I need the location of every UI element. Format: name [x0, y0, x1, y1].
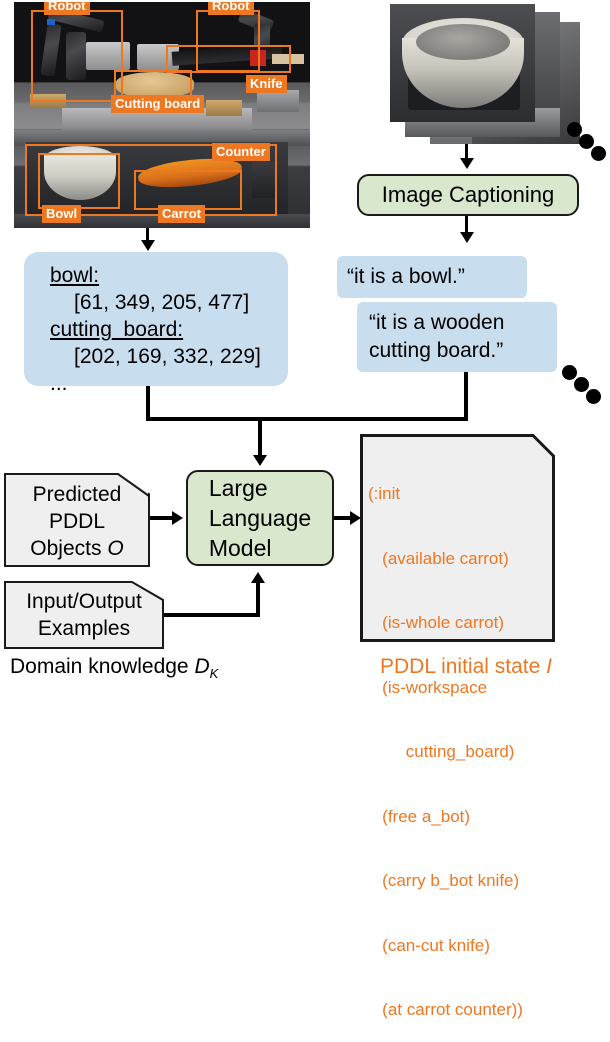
bbox-label-cutting-board: Cutting board: [111, 95, 204, 113]
examples-line-0: Input/Output: [4, 588, 164, 615]
stack-photo-front: [390, 4, 535, 122]
bbox-label-counter: Counter: [212, 143, 270, 161]
caption-ellipsis-dot-1: [562, 365, 577, 380]
objects-line-1: PDDL: [4, 508, 150, 535]
pddl-line-7: (can-cut knife): [368, 935, 553, 957]
connector-captions-down: [464, 372, 468, 420]
object-ellipsis: ...: [50, 370, 288, 397]
caption-bubble-2: “it is a wooden cutting board.”: [357, 302, 557, 372]
caption-ellipsis-dot-2: [574, 377, 589, 392]
arrow-captioning-to-captions: [460, 232, 474, 243]
arrow-merge-to-llm: [253, 455, 267, 466]
bbox-label-carrot: Carrot: [158, 205, 205, 223]
domain-knowledge-caption: Domain knowledge DK: [10, 655, 218, 681]
pddl-line-3: (is-workspace: [368, 677, 553, 699]
connector-examples-right: [164, 613, 260, 617]
bbox-label-robot-right: Robot: [208, 2, 254, 15]
large-language-model-module[interactable]: Large Language Model: [186, 470, 334, 566]
caption-bubble-1: “it is a bowl.”: [337, 256, 527, 298]
input-output-examples-text: Input/Output Examples: [4, 588, 164, 642]
examples-line-1: Examples: [4, 615, 164, 642]
caption-text-2: “it is a wooden cutting board.”: [357, 302, 557, 365]
connector-merge-horizontal: [146, 417, 468, 421]
pddl-line-8: (at carrot counter)): [368, 999, 553, 1021]
connector-examples-up: [256, 582, 260, 617]
arrow-examples-to-llm: [251, 572, 265, 583]
detected-objects-panel: bowl: [61, 349, 205, 477] cutting_board:…: [24, 252, 288, 386]
connector-objects-down: [146, 386, 150, 420]
arrow-stack-to-captioning: [460, 158, 474, 169]
predicted-pddl-objects-text: Predicted PDDL Objects O: [4, 481, 150, 562]
pddl-line-0: (:init: [368, 483, 553, 505]
object-key-1: cutting_board:: [50, 316, 288, 343]
bbox-knife: [166, 45, 291, 73]
connector-merge-to-llm: [258, 417, 262, 459]
objects-symbol: O: [107, 537, 123, 560]
object-coords-1: [202, 169, 332, 229]: [50, 343, 288, 370]
robot-scene-photo: Robot Robot Knife Cutting board Counter …: [14, 2, 310, 228]
objects-line-2: Objects O: [4, 535, 150, 562]
domain-knowledge-caption-text: Domain knowledge: [10, 655, 194, 678]
objects-line-2-text: Objects: [30, 537, 101, 560]
bbox-label-robot-left: Robot: [44, 2, 90, 15]
bbox-label-knife: Knife: [246, 75, 287, 93]
pddl-line-5: (free a_bot): [368, 806, 553, 828]
pddl-line-1: (available carrot): [368, 548, 553, 570]
stack-ellipsis-dot-3: [591, 146, 606, 161]
pddl-initial-state-caption: PDDL initial state I: [380, 655, 552, 679]
caption-image-stack: [375, 2, 590, 147]
object-key-0: bowl:: [50, 262, 288, 289]
object-coords-0: [61, 349, 205, 477]: [50, 289, 288, 316]
caption-text-1: “it is a bowl.”: [337, 256, 527, 290]
pddl-line-4: cutting_board): [368, 741, 553, 763]
stack-ellipsis-dot-1: [567, 122, 582, 137]
objects-line-0: Predicted: [4, 481, 150, 508]
pddl-initial-state-text: (:init (available carrot) (is-whole carr…: [368, 440, 553, 1042]
arrow-scene-to-objects: [141, 240, 155, 251]
pddl-line-6: (carry b_bot knife): [368, 870, 553, 892]
large-language-model-label: Large Language Model: [209, 473, 311, 563]
bbox-carrot: [134, 170, 242, 210]
pddl-caption-text: PDDL initial state: [380, 655, 546, 678]
domain-knowledge-subscript: K: [210, 666, 219, 681]
image-captioning-label: Image Captioning: [382, 182, 554, 208]
caption-ellipsis-dot-3: [586, 389, 601, 404]
pddl-line-2: (is-whole carrot): [368, 612, 553, 634]
stack-ellipsis-dot-2: [579, 134, 594, 149]
bbox-label-bowl: Bowl: [42, 205, 81, 223]
bbox-robot-left: [31, 10, 123, 102]
bbox-bowl: [38, 153, 120, 209]
domain-knowledge-symbol: D: [194, 655, 209, 678]
arrow-objects-to-llm: [172, 511, 183, 525]
image-captioning-module[interactable]: Image Captioning: [357, 174, 579, 216]
pddl-caption-symbol: I: [546, 655, 552, 678]
